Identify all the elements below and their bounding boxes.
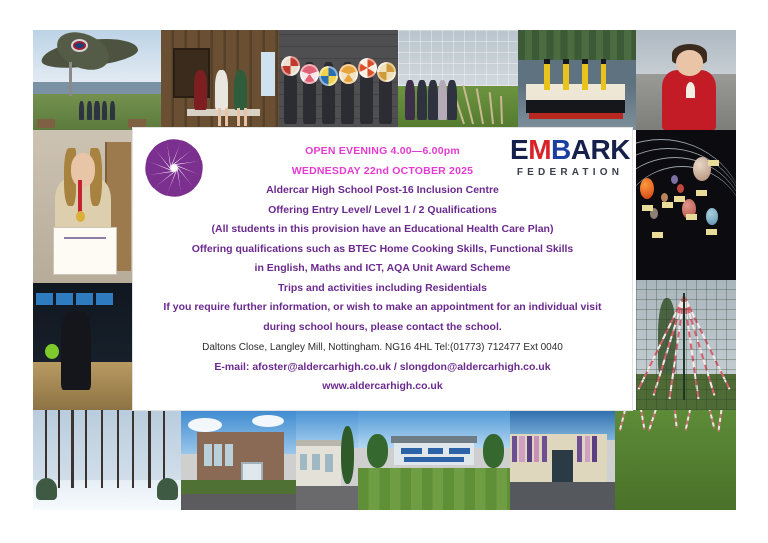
planet-neptune (706, 208, 718, 225)
photo-student-ice-cream (636, 30, 736, 130)
face (676, 50, 703, 76)
student-figure (215, 70, 228, 110)
score-screen (96, 293, 113, 304)
score-screen (56, 293, 73, 304)
person-figure (447, 80, 457, 120)
line-ehcp-note: (All students in this provision have an … (133, 220, 632, 240)
information-card: EMBARK FEDERATION OPEN EVENING 4.00—6.00… (133, 128, 632, 410)
line-qualifications: Offering Entry Level/ Level 1 / 2 Qualif… (133, 201, 632, 221)
photo-award-certificate (33, 130, 133, 283)
line-date: WEDNESDAY 22nd OCTOBER 2025 (133, 162, 632, 182)
line-website: www.aldercarhigh.co.uk (133, 377, 632, 397)
red-coat (662, 70, 716, 130)
score-screen (76, 293, 93, 304)
window (300, 454, 307, 470)
face (71, 153, 95, 187)
photo-viking-shields (279, 30, 398, 130)
photo-grass-ribbons (615, 410, 736, 510)
planet-label (674, 196, 685, 202)
colour-panel (592, 436, 597, 462)
window (214, 444, 222, 466)
photo-maypole-ribbons (636, 280, 736, 410)
person-figure (428, 80, 438, 120)
person-figure (405, 80, 415, 120)
cloud (188, 418, 223, 432)
photo-panelled-building (510, 410, 615, 510)
line-further-info: If you require further information, or w… (133, 298, 632, 318)
raf-roundel (71, 39, 88, 52)
ice-cream-cone (686, 82, 695, 98)
ship-funnel (601, 59, 607, 90)
photo-spitfire-aircraft (33, 30, 161, 130)
photo-outdoor-field-activity (398, 30, 518, 130)
photo-titanic-model (518, 30, 636, 130)
person-figure (87, 101, 92, 120)
tree (367, 434, 388, 468)
information-panel (261, 52, 275, 96)
mounting-pole (69, 62, 72, 96)
photo-solar-system-model (636, 130, 736, 280)
tree-trunk (117, 410, 119, 488)
bowling-ball (45, 344, 59, 359)
pirate-character (194, 70, 207, 110)
planet-label (662, 202, 673, 208)
planet-sun (640, 178, 654, 199)
tree-trunk (85, 410, 87, 488)
bowler-figure (61, 311, 91, 390)
photo-white-building (296, 410, 358, 510)
building-roof (391, 436, 476, 443)
evergreen-bush (157, 478, 178, 500)
viking-shield (358, 58, 377, 78)
colour-panel (512, 436, 517, 462)
line-subjects: in English, Maths and ICT, AQA Unit Awar… (133, 259, 632, 279)
ship-funnel (563, 59, 569, 90)
planet (677, 184, 684, 193)
person-figure (417, 80, 427, 120)
tree (341, 426, 355, 484)
leg (244, 108, 248, 126)
person-figure (94, 101, 99, 120)
lanyard (78, 180, 82, 214)
planet-label (642, 205, 653, 211)
ship-funnel (544, 59, 550, 90)
photo-ten-pin-bowling (33, 283, 133, 410)
evergreen-bush (36, 478, 57, 500)
viking-shield (377, 62, 396, 82)
line-email: E-mail: afoster@aldercarhigh.co.uk / slo… (133, 358, 632, 378)
blue-glass-panel (401, 448, 422, 454)
tree-trunk (148, 410, 150, 488)
planet-label (652, 232, 663, 238)
planet-label (696, 190, 707, 196)
tree-backdrop (518, 30, 636, 60)
photo-brick-school-building (181, 410, 296, 510)
person-figure (438, 80, 448, 120)
leg (218, 108, 222, 126)
viking-shield (339, 64, 358, 84)
window (325, 454, 334, 472)
line-school-name: Aldercar High School Post-16 Inclusion C… (133, 181, 632, 201)
person-figure (110, 101, 115, 120)
planet-label (708, 160, 719, 166)
blue-glass-panel (404, 457, 465, 462)
colour-panel (577, 436, 582, 462)
person-figure (102, 101, 107, 120)
tree (483, 434, 504, 468)
line-address: Daltons Close, Langley Mill, Nottingham.… (133, 338, 632, 358)
score-screen (36, 293, 53, 304)
road (510, 482, 615, 510)
colour-panel (527, 436, 532, 462)
road (181, 494, 296, 510)
colour-panel (585, 436, 590, 462)
line-open-evening: OPEN EVENING 4.00—6.00pm (133, 142, 632, 162)
colour-panel (519, 436, 524, 462)
window (204, 444, 212, 466)
tree-trunk (132, 410, 134, 488)
white-bench (187, 109, 260, 116)
ship-funnel (582, 59, 588, 90)
road (296, 486, 358, 510)
ship-deck (526, 84, 625, 100)
netting-backdrop (398, 30, 518, 86)
blue-glass-panel (428, 448, 443, 454)
photo-main-school-building (358, 410, 510, 510)
planet (671, 175, 678, 184)
poster-canvas: EMBARK FEDERATION OPEN EVENING 4.00—6.00… (0, 0, 768, 543)
blue-glass-panel (449, 448, 470, 454)
photo-snowy-woodland (33, 410, 181, 510)
poster-text-block: OPEN EVENING 4.00—6.00pm WEDNESDAY 22nd … (133, 142, 632, 397)
photo-pirate-visit (161, 30, 279, 130)
planet-label (706, 229, 717, 235)
ship-hull-red (529, 113, 623, 119)
window (312, 454, 319, 470)
line-trips: Trips and activities including Residenti… (133, 279, 632, 299)
water-backdrop (33, 82, 161, 94)
tree-trunk (45, 410, 47, 488)
medal (76, 211, 85, 222)
line-btec-offer: Offering qualifications such as BTEC Hom… (133, 240, 632, 260)
window (225, 444, 233, 466)
student-figure (234, 70, 247, 110)
picnic-table (128, 119, 146, 128)
planet-label (686, 214, 697, 220)
entrance (552, 450, 573, 482)
leg (237, 108, 241, 126)
fence-netting (636, 280, 736, 410)
tree-trunk (58, 410, 60, 488)
line-contact-school: during school hours, please contact the … (133, 318, 632, 338)
colour-panel (534, 436, 539, 462)
picnic-table (37, 119, 55, 128)
person-figure (79, 101, 84, 120)
planet (661, 193, 668, 202)
colour-panel (542, 436, 547, 462)
hedge-row (181, 480, 296, 494)
tree-trunk (71, 410, 73, 488)
ship-hull-black (526, 100, 625, 113)
award-certificate (53, 227, 117, 275)
leg (225, 108, 229, 126)
tree-trunk (101, 410, 103, 488)
tree-trunk (163, 410, 165, 488)
lawn (358, 468, 510, 510)
